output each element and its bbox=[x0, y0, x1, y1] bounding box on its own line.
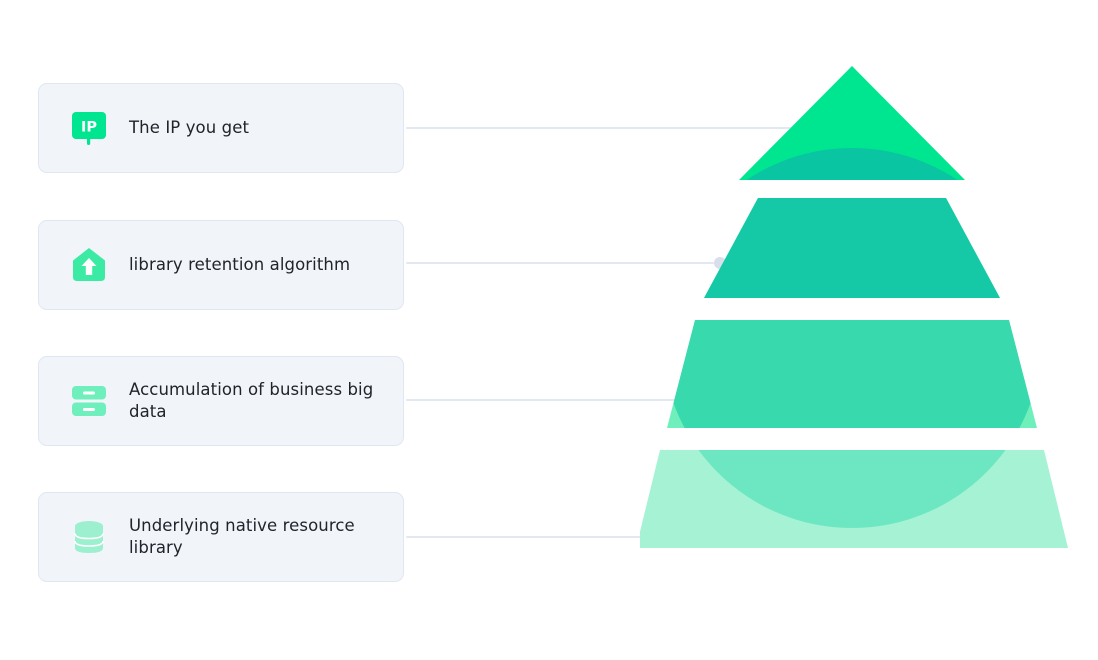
ip-badge-icon: IP bbox=[67, 106, 111, 150]
diagram-canvas: IP The IP you get library retention algo… bbox=[0, 0, 1098, 660]
card-bigdata[interactable]: Accumulation of business big data bbox=[38, 356, 404, 446]
card-retention[interactable]: library retention algorithm bbox=[38, 220, 404, 310]
layered-pyramid-sphere-diagram bbox=[640, 48, 1080, 608]
server-rack-icon bbox=[67, 379, 111, 423]
card-label: Underlying native resource library bbox=[129, 515, 379, 559]
card-label: library retention algorithm bbox=[129, 254, 350, 276]
feature-card-list: IP The IP you get library retention algo… bbox=[38, 0, 406, 660]
card-resource[interactable]: Underlying native resource library bbox=[38, 492, 404, 582]
shield-up-arrow-icon bbox=[67, 243, 111, 287]
database-cylinder-icon bbox=[67, 515, 111, 559]
card-label: Accumulation of business big data bbox=[129, 379, 379, 423]
card-label: The IP you get bbox=[129, 117, 249, 139]
card-ip[interactable]: IP The IP you get bbox=[38, 83, 404, 173]
svg-text:IP: IP bbox=[81, 120, 97, 136]
connector-line bbox=[406, 399, 676, 401]
